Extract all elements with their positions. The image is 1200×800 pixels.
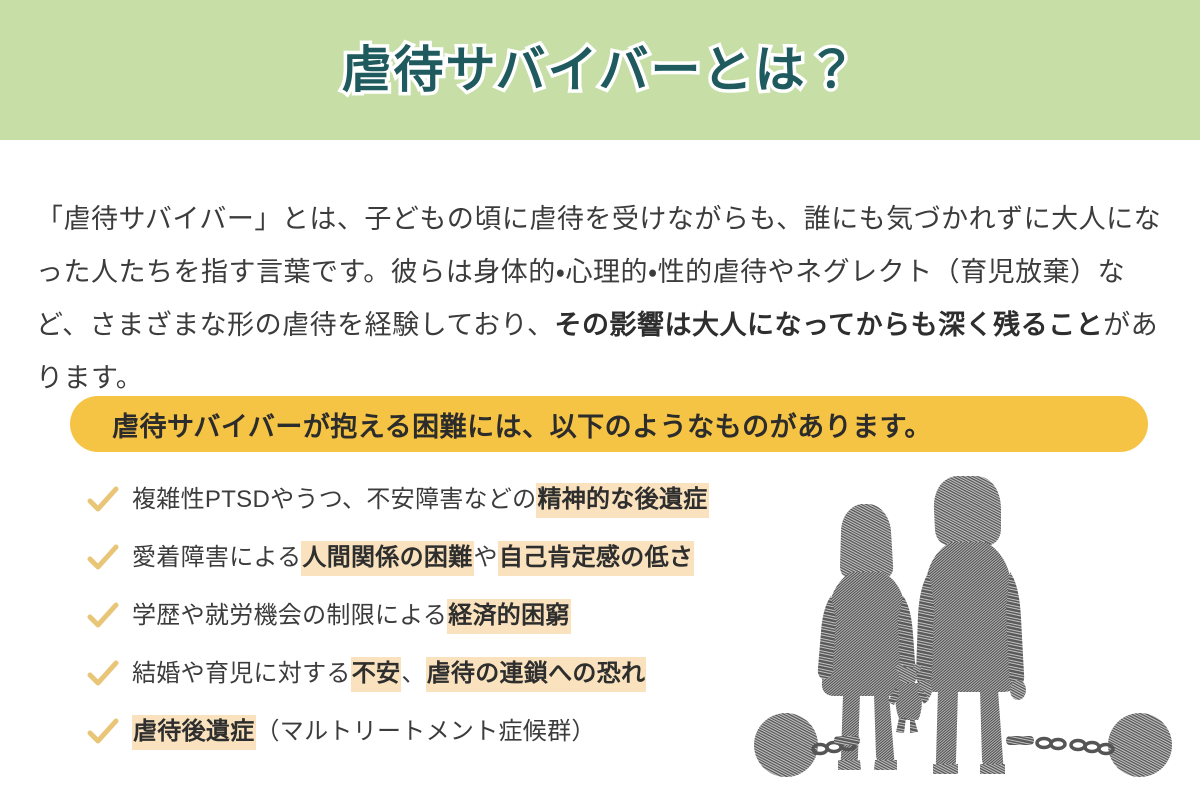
checklist-highlight: 不安: [351, 657, 402, 692]
checklist-plain-text: や: [474, 544, 498, 571]
check-icon: [86, 715, 120, 749]
check-icon: [86, 541, 120, 575]
checklist-item: 学歴や就労機会の制限による経済的困窮: [86, 594, 786, 638]
checklist-highlight: 経済的困窮: [447, 599, 571, 634]
checklist-item: 虐待後遺症（マルトリートメント症候群）: [86, 710, 786, 754]
checklist-plain-text: 、: [401, 660, 425, 687]
right-ball-and-chain: [1006, 713, 1172, 777]
page-title: 虐待サバイバーとは？: [342, 45, 859, 95]
checklist-plain-text: 学歴や就労機会の制限による: [132, 602, 447, 629]
intro-emphasis: その影響は大人になってからも深く残ること: [554, 310, 1103, 340]
checklist-item-label: 虐待後遺症（マルトリートメント症候群）: [132, 715, 596, 749]
checklist-item-label: 愛着障害による人間関係の困難や自己肯定感の低さ: [132, 541, 694, 575]
difficulties-banner-label: 虐待サバイバーが抱える困難には、以下のようなものがあります。: [112, 405, 932, 444]
checklist-item: 結婚や育児に対する不安、虐待の連鎖への恐れ: [86, 652, 786, 696]
checklist-item: 愛着障害による人間関係の困難や自己肯定感の低さ: [86, 536, 786, 580]
checklist-item-label: 結婚や育児に対する不安、虐待の連鎖への恐れ: [132, 657, 646, 691]
check-icon: [86, 657, 120, 691]
man-figure: [916, 476, 1026, 774]
checklist-plain-text: 愛着障害による: [132, 544, 301, 571]
checklist-highlight: 自己肯定感の低さ: [498, 541, 694, 576]
checklist-highlight: 虐待の連鎖への恐れ: [426, 657, 647, 692]
checklist-plain-text: （マルトリートメント症候群）: [256, 718, 596, 745]
checklist-item-label: 複雑性PTSDやうつ、不安障害などの精神的な後遺症: [132, 483, 709, 517]
checklist-highlight: 精神的な後遺症: [536, 483, 708, 518]
survivors-illustration: [748, 468, 1178, 790]
check-icon: [86, 599, 120, 633]
difficulties-banner: 虐待サバイバーが抱える困難には、以下のようなものがあります。: [70, 396, 1148, 452]
checklist-item: 複雑性PTSDやうつ、不安障害などの精神的な後遺症: [86, 478, 786, 522]
header-banner: 虐待サバイバーとは？: [0, 0, 1200, 140]
check-icon: [86, 483, 120, 517]
checklist-plain-text: 結婚や育児に対する: [132, 660, 351, 687]
checklist-highlight: 人間関係の困難: [301, 541, 473, 576]
intro-paragraph: 「虐待サバイバー」とは、子どもの頃に虐待を受けながらも、誰にも気づかれずに大人に…: [36, 193, 1166, 405]
checklist-plain-text: 複雑性PTSDやうつ、不安障害などの: [132, 486, 536, 513]
checklist-highlight: 虐待後遺症: [132, 715, 256, 750]
difficulties-checklist: 複雑性PTSDやうつ、不安障害などの精神的な後遺症愛着障害による人間関係の困難や…: [86, 478, 786, 768]
checklist-item-label: 学歴や就労機会の制限による経済的困窮: [132, 599, 571, 633]
